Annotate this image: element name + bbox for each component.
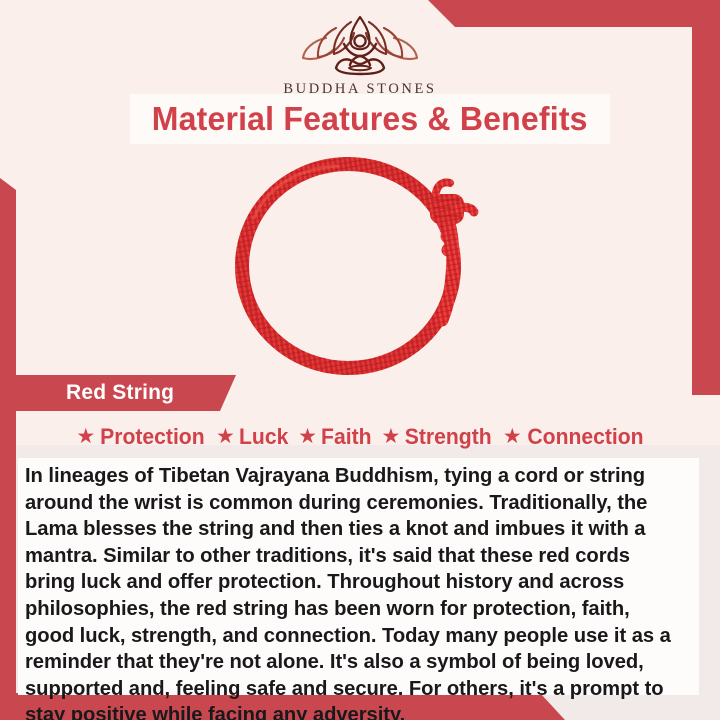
page-title: Material Features & Benefits (152, 100, 588, 138)
bracelet-knot (430, 182, 474, 224)
benefits-row: ★ Protection ★ Luck ★ Faith ★ Strength ★… (16, 420, 706, 454)
benefit-item: ★ Protection (76, 424, 207, 450)
product-label-text: Red String (66, 381, 174, 405)
brand-name: BUDDHA STONES (0, 81, 720, 98)
product-label-ribbon: Red String (16, 375, 236, 411)
benefit-label: Protection (100, 424, 204, 450)
star-icon: ★ (76, 426, 95, 447)
brand-logo: BUDDHA STONES (0, 14, 720, 98)
star-icon: ★ (298, 426, 317, 447)
description-text: In lineages of Tibetan Vajrayana Buddhis… (25, 463, 680, 720)
benefit-item: ★ Connection (503, 424, 646, 450)
product-image-area (16, 150, 692, 375)
star-icon: ★ (503, 426, 522, 447)
description-panel: In lineages of Tibetan Vajrayana Buddhis… (18, 458, 699, 695)
material-features-poster: BUDDHA STONES Material Features & Benefi… (0, 0, 720, 720)
star-icon: ★ (382, 426, 401, 447)
benefit-item: ★ Strength (382, 424, 494, 450)
decoration-left-vertical-bar (0, 178, 16, 720)
benefit-label: Luck (239, 424, 288, 450)
title-banner: Material Features & Benefits (130, 94, 610, 144)
star-icon: ★ (216, 426, 235, 447)
benefit-item: ★ Luck (216, 424, 289, 450)
benefit-label: Connection (527, 424, 643, 450)
benefit-label: Faith (321, 424, 371, 450)
lotus-meditation-icon (296, 14, 424, 78)
benefit-label: Strength (405, 424, 492, 450)
red-string-bracelet-image (220, 150, 488, 375)
benefit-item: ★ Faith (298, 424, 372, 450)
